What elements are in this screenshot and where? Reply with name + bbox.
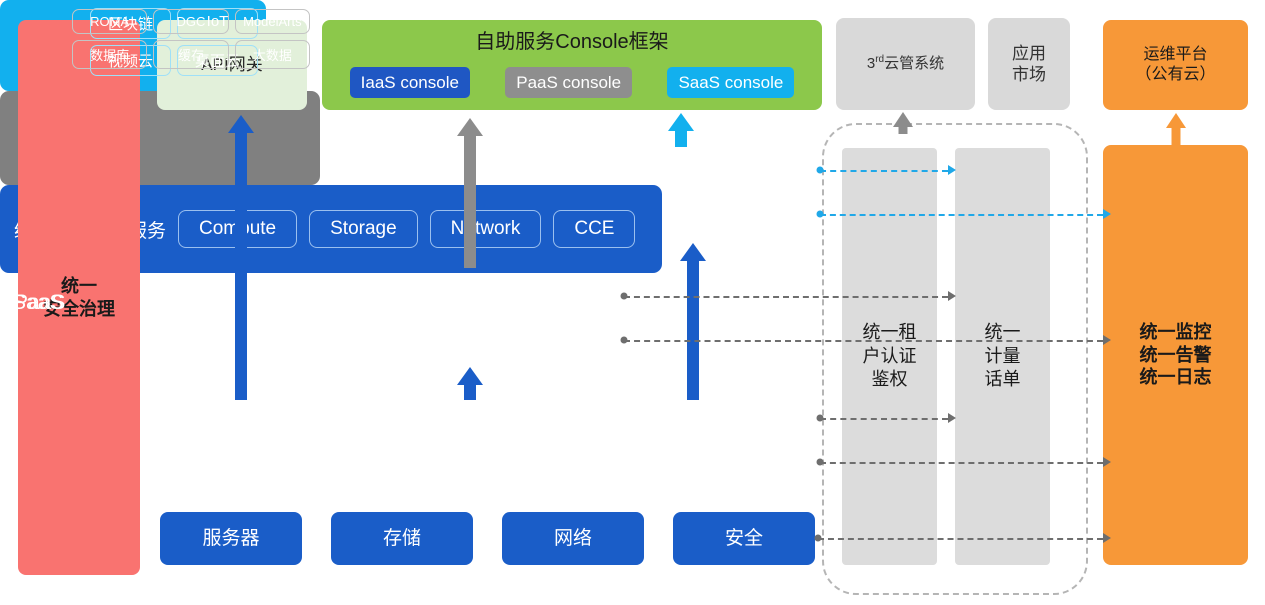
paas-service-cache[interactable]: 缓存	[153, 40, 228, 69]
connector-arrow-resources-monitoring	[1103, 533, 1111, 543]
connector-paas-to-auth	[624, 296, 948, 298]
unified-monitoring-label: 统一监控统一告警统一日志	[1140, 321, 1212, 389]
unified-tenant-auth-column: 统一租户认证鉴权	[842, 148, 937, 565]
infra-chip-network[interactable]: Network	[430, 210, 542, 248]
connector-arrow-infra-auth	[948, 413, 956, 423]
connector-resources-to-monitoring	[818, 538, 1103, 540]
connector-arrow-infra-monitoring	[1103, 457, 1111, 467]
connector-arrow-paas-auth	[948, 291, 956, 301]
arrow-infra-to-saas	[680, 243, 706, 400]
paas-console-pill[interactable]: PaaS console	[505, 67, 632, 98]
unified-tenant-auth-label: 统一租户认证鉴权	[863, 321, 917, 391]
arrow-infra-to-paas	[457, 367, 483, 400]
paas-service-roma[interactable]: ROMA	[72, 9, 147, 34]
console-pill-group: IaaS console PaaS console SaaS console	[322, 67, 822, 98]
app-market-label: 应用市场	[1012, 43, 1046, 86]
arrow-saas-to-console	[668, 113, 694, 147]
architecture-diagram: 统一安全治理 API网关 自助服务Console框架 IaaS console …	[0, 0, 1265, 605]
connector-saas-to-monitoring	[820, 214, 1103, 216]
ops-platform-public-cloud-label: 运维平台（公有云）	[1135, 45, 1215, 85]
arrow-paas-to-console	[457, 118, 483, 268]
third-party-cloud-mgmt-box: 3rd云管系统	[836, 18, 975, 110]
resource-box-storage: 存储	[331, 512, 473, 565]
connector-arrow-paas-monitoring	[1103, 335, 1111, 345]
connector-saas-to-auth	[820, 170, 948, 172]
paas-service-bigdata[interactable]: 大数据	[235, 40, 310, 69]
app-market-box: 应用市场	[988, 18, 1070, 110]
resource-box-server: 服务器	[160, 512, 302, 565]
paas-layer-label: PaaS	[14, 291, 65, 315]
resource-box-network: 网络	[502, 512, 644, 565]
infra-chip-storage[interactable]: Storage	[309, 210, 418, 248]
self-service-console-frame: 自助服务Console框架 IaaS console PaaS console …	[322, 20, 822, 110]
paas-service-dgc[interactable]: DGC	[153, 9, 228, 34]
paas-service-database[interactable]: 数据库	[72, 40, 147, 69]
ops-platform-public-cloud-box: 运维平台（公有云）	[1103, 20, 1248, 110]
third-party-cloud-mgmt-label: 3rd云管系统	[867, 54, 944, 74]
connector-infra-to-auth	[820, 418, 948, 420]
unified-metering-column: 统一计量话单	[955, 148, 1050, 565]
unified-metering-label: 统一计量话单	[985, 321, 1021, 391]
console-frame-title: 自助服务Console框架	[322, 30, 822, 55]
paas-service-modelarts[interactable]: ModelArts	[235, 9, 310, 34]
connector-paas-to-monitoring	[624, 340, 1103, 342]
resource-box-security: 安全	[673, 512, 815, 565]
arrow-zone-to-third-party-cloud	[890, 112, 916, 134]
arrow-infra-to-api-gateway	[228, 115, 254, 400]
paas-service-grid: ROMA DGC ModelArts 数据库 缓存 大数据	[72, 9, 310, 69]
connector-infra-to-monitoring	[820, 462, 1103, 464]
iaas-console-pill[interactable]: IaaS console	[350, 67, 470, 98]
arrow-monitoring-to-ops-platform	[1163, 113, 1189, 147]
connector-arrow-saas-monitoring	[1103, 209, 1111, 219]
saas-console-pill[interactable]: SaaS console	[667, 67, 794, 98]
connector-arrow-saas-auth	[948, 165, 956, 175]
infra-chip-cce[interactable]: CCE	[553, 210, 635, 248]
unified-monitoring-panel: 统一监控统一告警统一日志	[1103, 145, 1248, 565]
